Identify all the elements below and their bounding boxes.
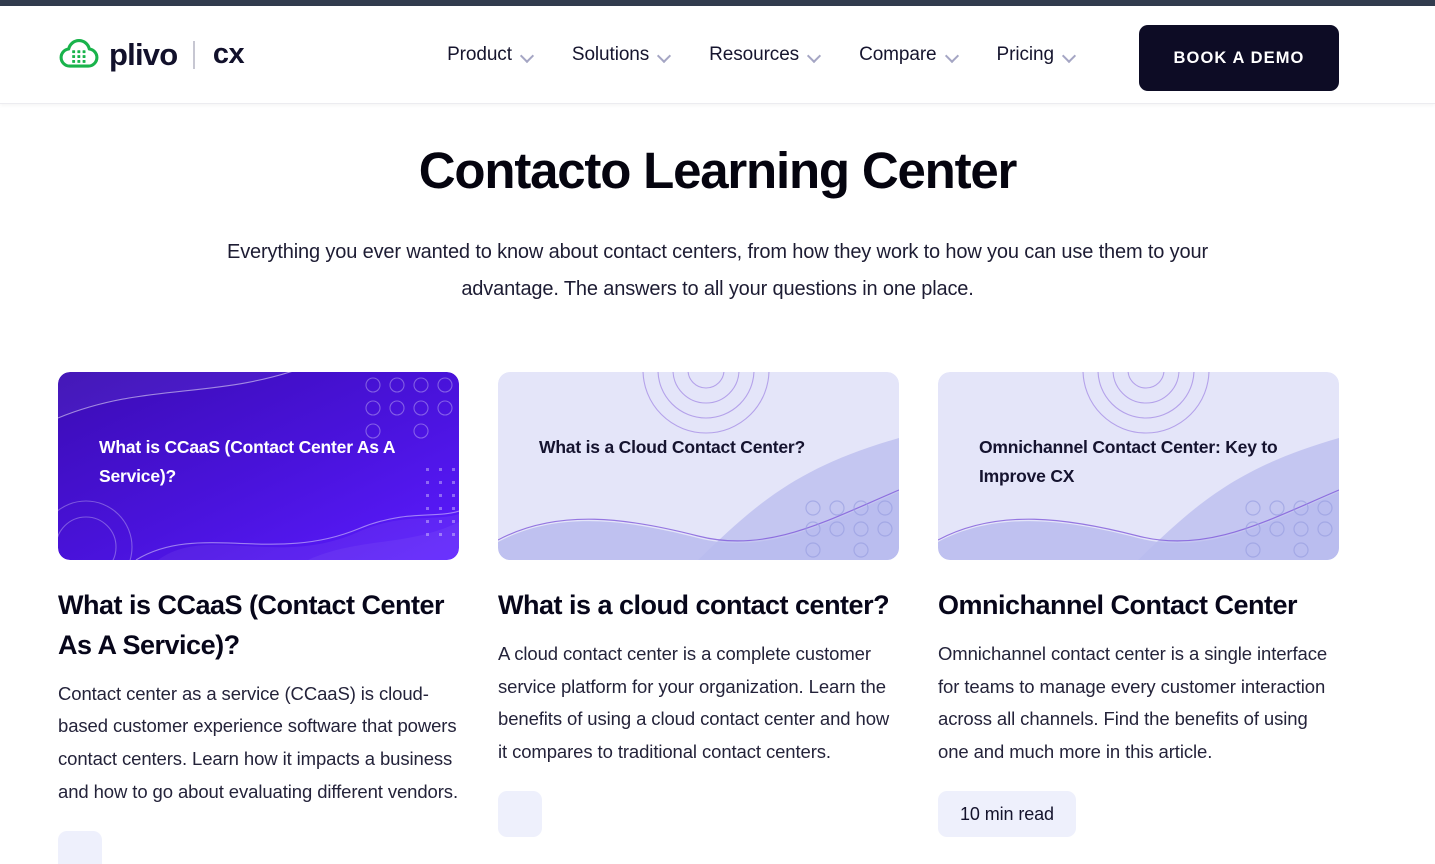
nav-item-label: Pricing [997,44,1054,66]
article-card-grid: What is CCaaS (Contact Center As A Servi… [0,372,1435,864]
thumbnail-title: What is CCaaS (Contact Center As A Servi… [99,433,409,492]
logo-product-name: cx [213,40,244,69]
card-description: Omnichannel contact center is a single i… [938,638,1339,770]
card-title: What is CCaaS (Contact Center As A Servi… [58,586,459,666]
nav-item-label: Compare [859,44,936,66]
article-thumbnail: What is a Cloud Contact Center? [498,372,899,560]
page-title: Contacto Learning Center [0,142,1435,201]
chevron-down-icon [521,51,534,59]
read-time-badge [58,831,102,864]
nav-item-label: Product [447,44,512,66]
site-header: plivo cx Product Solutions Resources Com… [0,6,1435,104]
nav-item-product[interactable]: Product [447,44,534,66]
article-card[interactable]: Omnichannel Contact Center: Key to Impro… [938,372,1339,864]
nav-item-label: Solutions [572,44,649,66]
brand-logo[interactable]: plivo cx [58,38,244,72]
read-time-badge: 10 min read [938,791,1076,837]
chevron-down-icon [946,51,959,59]
thumbnail-title: What is a Cloud Contact Center? [539,433,849,462]
logo-divider [193,41,195,69]
nav-item-label: Resources [709,44,799,66]
card-title: What is a cloud contact center? [498,586,899,626]
hero-section: Contacto Learning Center Everything you … [0,104,1435,308]
nav-item-pricing[interactable]: Pricing [997,44,1076,66]
article-thumbnail: What is CCaaS (Contact Center As A Servi… [58,372,459,560]
article-card[interactable]: What is a Cloud Contact Center? What is … [498,372,899,864]
main-navigation: Product Solutions Resources Compare Pric… [447,44,1076,66]
plivo-cloud-logo-icon [58,38,100,72]
nav-item-compare[interactable]: Compare [859,44,958,66]
nav-item-resources[interactable]: Resources [709,44,821,66]
article-thumbnail: Omnichannel Contact Center: Key to Impro… [938,372,1339,560]
chevron-down-icon [808,51,821,59]
card-title: Omnichannel Contact Center [938,586,1339,626]
thumbnail-artwork [498,372,899,560]
logo-wordmark: plivo [109,39,177,70]
chevron-down-icon [658,51,671,59]
book-a-demo-button[interactable]: BOOK A DEMO [1139,25,1339,91]
thumbnail-title: Omnichannel Contact Center: Key to Impro… [979,433,1289,492]
page-subtitle: Everything you ever wanted to know about… [218,234,1218,308]
card-description: A cloud contact center is a complete cus… [498,638,899,770]
chevron-down-icon [1063,51,1076,59]
card-description: Contact center as a service (CCaaS) is c… [58,678,459,810]
article-card[interactable]: What is CCaaS (Contact Center As A Servi… [58,372,459,864]
read-time-badge [498,791,542,837]
nav-item-solutions[interactable]: Solutions [572,44,671,66]
